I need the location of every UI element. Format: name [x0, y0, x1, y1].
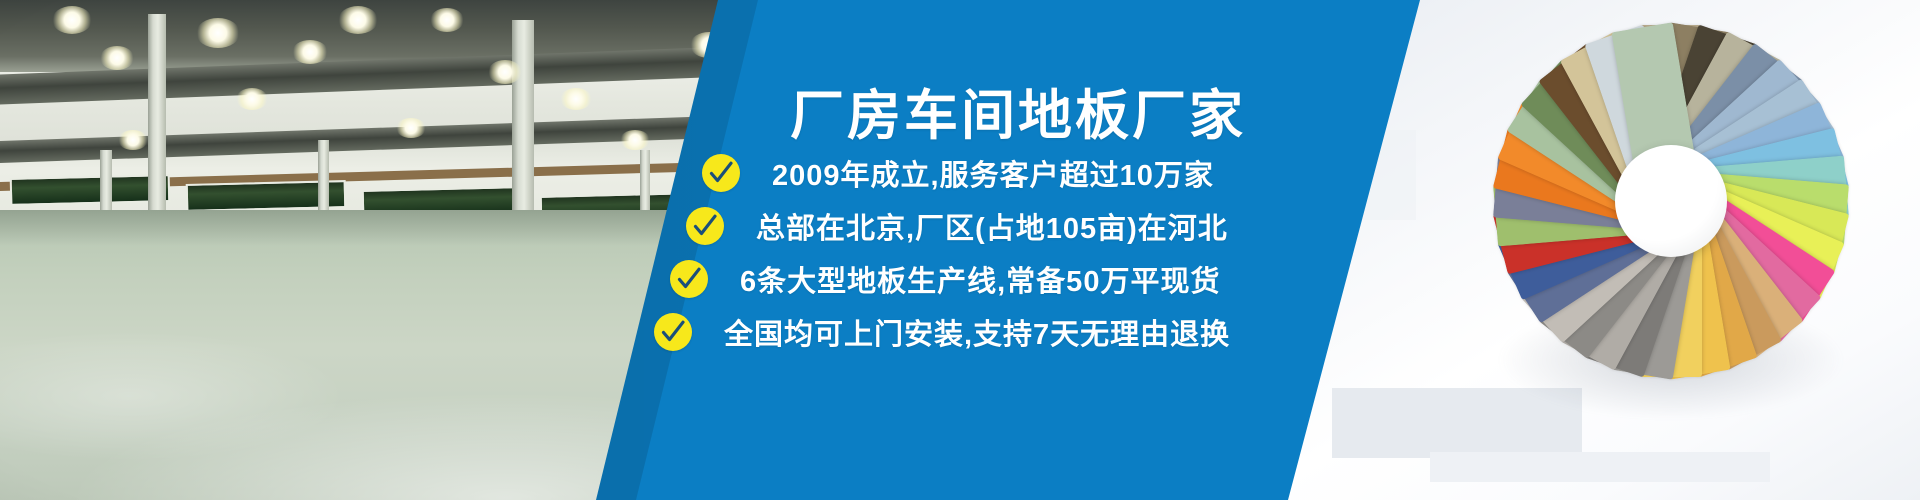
check-circle-icon: [654, 313, 692, 351]
feature-item-label: 2009年成立,服务客户超过10万家: [772, 152, 1214, 194]
feature-item-label: 6条大型地板生产线,常备50万平现货: [740, 258, 1220, 300]
feature-item-4: 全国均可上门安装,支持7天无理由退换: [654, 311, 1230, 353]
check-circle-icon: [686, 207, 724, 245]
check-circle-icon: [670, 260, 708, 298]
feature-item-3: 6条大型地板生产线,常备50万平现货: [670, 258, 1220, 300]
feature-item-label: 总部在北京,厂区(占地105亩)在河北: [756, 205, 1228, 247]
feature-item-label: 全国均可上门安装,支持7天无理由退换: [724, 311, 1230, 353]
promo-banner: 厂房车间地板厂家 2009年成立,服务客户超过10万家 总部在北京,厂区(占地1…: [0, 0, 1920, 500]
check-circle-icon: [702, 154, 740, 192]
fan-center-hub: [1615, 145, 1727, 257]
feature-item-2: 总部在北京,厂区(占地105亩)在河北: [686, 205, 1228, 247]
feature-item-1: 2009年成立,服务客户超过10万家: [702, 152, 1214, 194]
